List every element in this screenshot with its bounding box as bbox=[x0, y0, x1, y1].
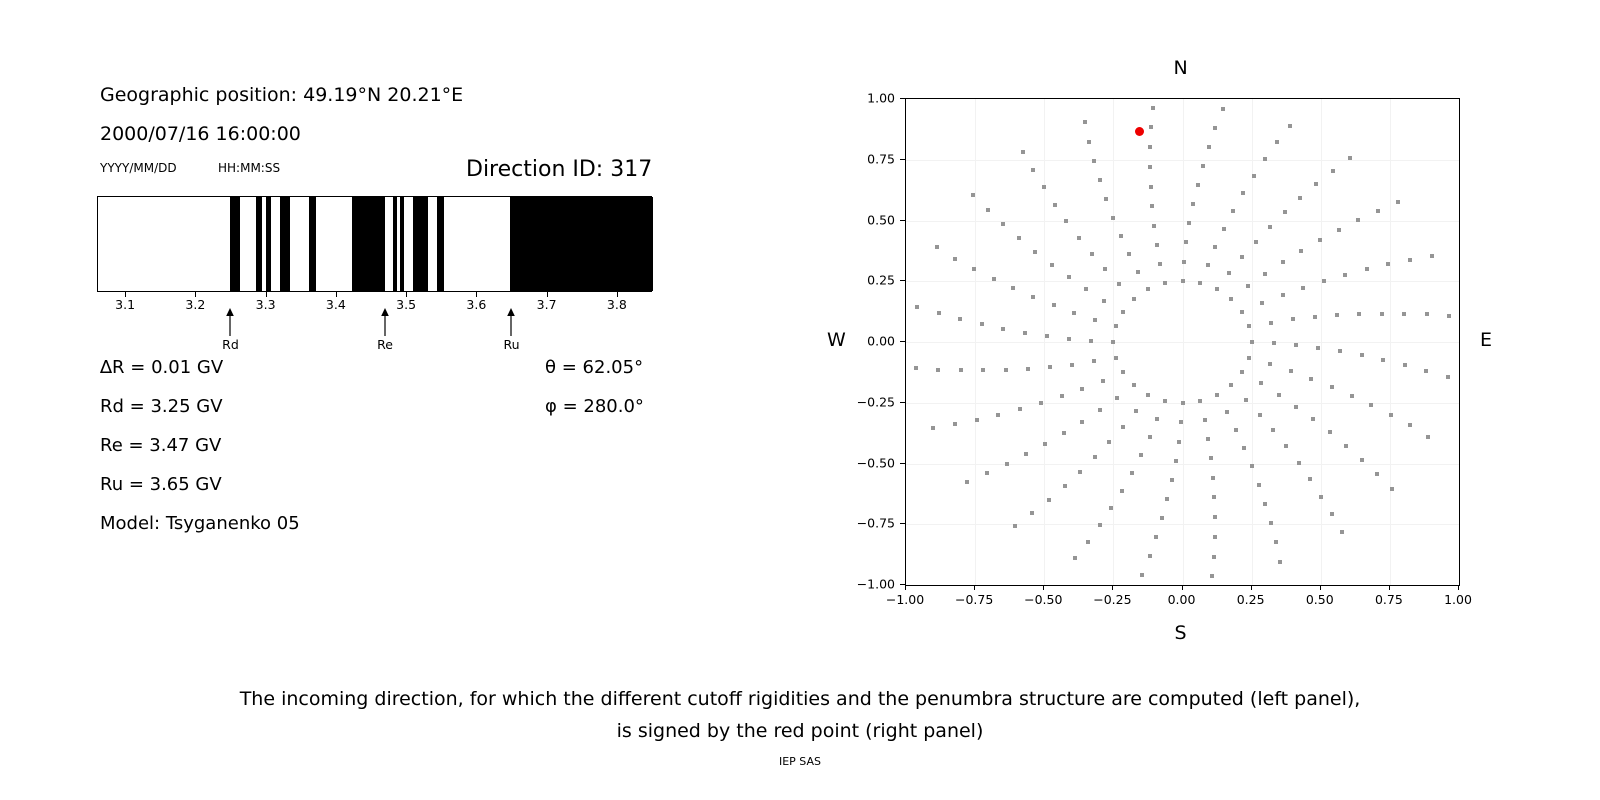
gridline-horizontal bbox=[906, 464, 1459, 465]
scatter-point bbox=[1001, 222, 1005, 226]
x-axis-tick-mark bbox=[974, 585, 975, 590]
scatter-point bbox=[1425, 312, 1429, 316]
scatter-point bbox=[1402, 312, 1406, 316]
scatter-point bbox=[1424, 369, 1428, 373]
scatter-point bbox=[1033, 250, 1037, 254]
scatter-point bbox=[1120, 489, 1124, 493]
scatter-point bbox=[1109, 506, 1113, 510]
scatter-point bbox=[1187, 221, 1191, 225]
scatter-point bbox=[1092, 359, 1096, 363]
scatter-point bbox=[1115, 396, 1119, 400]
scatter-point bbox=[1234, 428, 1238, 432]
scatter-point bbox=[1155, 417, 1159, 421]
scatter-point bbox=[1111, 216, 1115, 220]
scatter-point bbox=[1165, 497, 1169, 501]
scatter-point bbox=[1278, 560, 1282, 564]
parameter-line: Ru = 3.65 GV bbox=[100, 474, 222, 495]
y-axis-tick-label: 0.00 bbox=[837, 334, 895, 349]
x-axis-tick-label: 0.75 bbox=[1375, 592, 1403, 607]
scatter-point bbox=[931, 426, 935, 430]
y-axis-tick-label: 0.50 bbox=[837, 212, 895, 227]
penumbra-band bbox=[352, 197, 386, 291]
scatter-point bbox=[1357, 312, 1361, 316]
scatter-point bbox=[1229, 383, 1233, 387]
penumbra-band bbox=[309, 197, 315, 291]
x-axis-tick-mark bbox=[905, 585, 906, 590]
scatter-point bbox=[1330, 512, 1334, 516]
scatter-point bbox=[986, 208, 990, 212]
scatter-point bbox=[1263, 272, 1267, 276]
scatter-point bbox=[953, 257, 957, 261]
scatter-point bbox=[1294, 343, 1298, 347]
y-axis-tick-label: −0.25 bbox=[837, 394, 895, 409]
parameter-line: θ = 62.05° bbox=[545, 357, 643, 378]
rigidity-marker-label: Re bbox=[374, 337, 396, 352]
scatter-point bbox=[1213, 535, 1217, 539]
x-axis-tick-mark bbox=[1112, 585, 1113, 590]
scatter-point bbox=[1080, 387, 1084, 391]
y-axis-tick-label: 0.75 bbox=[837, 151, 895, 166]
scatter-point bbox=[1031, 295, 1035, 299]
scatter-point bbox=[1127, 252, 1131, 256]
scatter-point bbox=[1348, 156, 1352, 160]
scatter-point bbox=[1275, 140, 1279, 144]
penumbra-band bbox=[256, 197, 262, 291]
scatter-point bbox=[1004, 368, 1008, 372]
scatter-point bbox=[1206, 263, 1210, 267]
scatter-point bbox=[1322, 279, 1326, 283]
scatter-point bbox=[1050, 263, 1054, 267]
time-format-hint: HH:MM:SS bbox=[218, 161, 280, 175]
scatter-point bbox=[1227, 271, 1231, 275]
axis-tick-label: 3.1 bbox=[115, 297, 135, 312]
scatter-point bbox=[1350, 394, 1354, 398]
scatter-point bbox=[1149, 125, 1153, 129]
scatter-point bbox=[1163, 399, 1167, 403]
y-axis-tick-mark bbox=[900, 220, 905, 221]
y-axis-tick-label: 1.00 bbox=[837, 91, 895, 106]
scatter-point bbox=[1360, 353, 1364, 357]
scatter-point bbox=[1011, 286, 1015, 290]
scatter-point bbox=[1160, 516, 1164, 520]
scatter-point bbox=[1268, 362, 1272, 366]
penumbra-axis: 3.13.23.33.43.53.63.73.8 bbox=[97, 292, 652, 308]
scatter-point bbox=[1052, 303, 1056, 307]
x-axis-tick-label: −0.25 bbox=[1093, 592, 1131, 607]
scatter-point bbox=[1360, 458, 1364, 462]
scatter-point bbox=[1005, 462, 1009, 466]
y-axis-tick-label: −0.75 bbox=[837, 516, 895, 531]
scatter-point bbox=[1140, 573, 1144, 577]
scatter-point bbox=[1150, 204, 1154, 208]
scatter-point bbox=[1031, 168, 1035, 172]
scatter-point bbox=[1338, 349, 1342, 353]
scatter-point bbox=[1130, 471, 1134, 475]
scatter-point bbox=[1319, 495, 1323, 499]
figure-caption: The incoming direction, for which the di… bbox=[0, 683, 1600, 747]
scatter-point bbox=[1335, 313, 1339, 317]
scatter-point bbox=[981, 368, 985, 372]
scatter-point bbox=[1259, 381, 1263, 385]
sky-map-plot bbox=[905, 98, 1460, 586]
axis-tick-label: 3.2 bbox=[185, 297, 205, 312]
scatter-point bbox=[1268, 225, 1272, 229]
scatter-point bbox=[1087, 140, 1091, 144]
penumbra-band bbox=[280, 197, 290, 291]
scatter-point bbox=[1328, 430, 1332, 434]
x-axis-tick-mark bbox=[1320, 585, 1321, 590]
scatter-point bbox=[1221, 107, 1225, 111]
scatter-point bbox=[1042, 185, 1046, 189]
scatter-point bbox=[1269, 321, 1273, 325]
scatter-point bbox=[1203, 418, 1207, 422]
scatter-point bbox=[1121, 425, 1125, 429]
scatter-point bbox=[1084, 287, 1088, 291]
scatter-point bbox=[1254, 240, 1258, 244]
scatter-point bbox=[1155, 243, 1159, 247]
scatter-point bbox=[1090, 252, 1094, 256]
rigidity-marker-ru: Ru bbox=[500, 308, 522, 352]
scatter-point bbox=[953, 422, 957, 426]
scatter-point bbox=[1001, 327, 1005, 331]
y-axis-tick-mark bbox=[900, 341, 905, 342]
scatter-point bbox=[1426, 435, 1430, 439]
scatter-point bbox=[1184, 240, 1188, 244]
scatter-point bbox=[1222, 227, 1226, 231]
scatter-point bbox=[915, 305, 919, 309]
scatter-point bbox=[1045, 334, 1049, 338]
scatter-point bbox=[1114, 324, 1118, 328]
scatter-point bbox=[1260, 301, 1264, 305]
scatter-point bbox=[1163, 281, 1167, 285]
right-panel: N E S W −1.00−0.75−0.50−0.250.000.250.50… bbox=[800, 0, 1600, 680]
scatter-point bbox=[1151, 106, 1155, 110]
penumbra-band bbox=[266, 197, 271, 291]
scatter-point bbox=[1181, 279, 1185, 283]
compass-east-label: E bbox=[1480, 329, 1492, 351]
scatter-point bbox=[1244, 398, 1248, 402]
scatter-point bbox=[1213, 126, 1217, 130]
scatter-point bbox=[1274, 540, 1278, 544]
scatter-point bbox=[1240, 310, 1244, 314]
scatter-point bbox=[1039, 401, 1043, 405]
scatter-point bbox=[1072, 311, 1076, 315]
scatter-point bbox=[1047, 498, 1051, 502]
scatter-point bbox=[1148, 435, 1152, 439]
scatter-point bbox=[1247, 324, 1251, 328]
scatter-point bbox=[1114, 356, 1118, 360]
scatter-point bbox=[1060, 394, 1064, 398]
scatter-point bbox=[1213, 245, 1217, 249]
scatter-point bbox=[1340, 530, 1344, 534]
y-axis-tick-mark bbox=[900, 98, 905, 99]
rigidity-marker-rd: Rd bbox=[219, 308, 241, 352]
parameter-line: Rd = 3.25 GV bbox=[100, 396, 223, 417]
scatter-point bbox=[1365, 267, 1369, 271]
scatter-point bbox=[959, 368, 963, 372]
x-axis-tick-label: −0.75 bbox=[955, 592, 993, 607]
scatter-point bbox=[1043, 442, 1047, 446]
scatter-point bbox=[1148, 554, 1152, 558]
axis-tick-label: 3.6 bbox=[466, 297, 486, 312]
scatter-point bbox=[1281, 293, 1285, 297]
scatter-point bbox=[1284, 444, 1288, 448]
scatter-point bbox=[1430, 254, 1434, 258]
scatter-point bbox=[1132, 297, 1136, 301]
scatter-point bbox=[1213, 515, 1217, 519]
scatter-point bbox=[1313, 315, 1317, 319]
scatter-point bbox=[1078, 470, 1082, 474]
scatter-point bbox=[1257, 483, 1261, 487]
scatter-point bbox=[937, 311, 941, 315]
scatter-point bbox=[965, 480, 969, 484]
scatter-point bbox=[1381, 358, 1385, 362]
x-axis-tick-label: 1.00 bbox=[1444, 592, 1472, 607]
scatter-point bbox=[1247, 356, 1251, 360]
up-arrow-icon bbox=[224, 308, 236, 336]
scatter-point bbox=[1148, 145, 1152, 149]
scatter-point bbox=[914, 366, 918, 370]
x-axis-tick-label: 0.25 bbox=[1237, 592, 1265, 607]
scatter-point bbox=[1070, 363, 1074, 367]
scatter-point bbox=[1272, 341, 1276, 345]
scatter-point bbox=[1252, 174, 1256, 178]
scatter-point bbox=[1344, 444, 1348, 448]
scatter-point bbox=[1330, 385, 1334, 389]
scatter-point bbox=[1098, 178, 1102, 182]
parameter-line: Re = 3.47 GV bbox=[100, 435, 221, 456]
scatter-point bbox=[1170, 478, 1174, 482]
scatter-point bbox=[1111, 340, 1115, 344]
scatter-point bbox=[1215, 287, 1219, 291]
scatter-point bbox=[1134, 409, 1138, 413]
scatter-point bbox=[1229, 297, 1233, 301]
scatter-point bbox=[1206, 437, 1210, 441]
scatter-point bbox=[1308, 477, 1312, 481]
scatter-point bbox=[1198, 399, 1202, 403]
scatter-point bbox=[936, 368, 940, 372]
penumbra-band bbox=[230, 197, 240, 291]
scatter-point bbox=[1021, 150, 1025, 154]
x-axis-tick-mark bbox=[1458, 585, 1459, 590]
scatter-point bbox=[1158, 262, 1162, 266]
scatter-point bbox=[1023, 331, 1027, 335]
scatter-point bbox=[958, 317, 962, 321]
scatter-point bbox=[1086, 540, 1090, 544]
scatter-point bbox=[1343, 273, 1347, 277]
penumbra-chart bbox=[97, 196, 652, 292]
x-axis-tick-label: 0.00 bbox=[1168, 592, 1196, 607]
axis-tick-label: 3.8 bbox=[607, 297, 627, 312]
scatter-point bbox=[985, 471, 989, 475]
scatter-point bbox=[996, 413, 1000, 417]
gridline-horizontal bbox=[906, 160, 1459, 161]
scatter-point bbox=[1314, 182, 1318, 186]
scatter-point bbox=[1240, 255, 1244, 259]
scatter-point bbox=[1121, 310, 1125, 314]
scatter-point bbox=[1211, 476, 1215, 480]
geographic-position-label: Geographic position: 49.19°N 20.21°E bbox=[100, 84, 463, 106]
scatter-point bbox=[1093, 455, 1097, 459]
scatter-point bbox=[1242, 446, 1246, 450]
y-axis-tick-mark bbox=[900, 280, 905, 281]
datetime-label: 2000/07/16 16:00:00 bbox=[100, 123, 301, 145]
penumbra-band bbox=[400, 197, 404, 291]
y-axis-tick-mark bbox=[900, 159, 905, 160]
scatter-point bbox=[1139, 453, 1143, 457]
scatter-point bbox=[1132, 383, 1136, 387]
scatter-point bbox=[992, 277, 996, 281]
parameter-line: ∆R = 0.01 GV bbox=[100, 357, 223, 378]
penumbra-band bbox=[413, 197, 428, 291]
scatter-point bbox=[1073, 556, 1077, 560]
scatter-point bbox=[1258, 413, 1262, 417]
gridline-horizontal bbox=[906, 524, 1459, 525]
scatter-point bbox=[1018, 407, 1022, 411]
penumbra-band bbox=[437, 197, 443, 291]
scatter-point bbox=[1369, 403, 1373, 407]
scatter-point bbox=[1198, 281, 1202, 285]
y-axis-tick-mark bbox=[900, 523, 905, 524]
scatter-point bbox=[1107, 440, 1111, 444]
scatter-point bbox=[1174, 459, 1178, 463]
scatter-point bbox=[1294, 405, 1298, 409]
scatter-point bbox=[1067, 275, 1071, 279]
rigidity-marker-label: Ru bbox=[500, 337, 522, 352]
scatter-point bbox=[1375, 472, 1379, 476]
scatter-point bbox=[1246, 284, 1250, 288]
scatter-point bbox=[1396, 200, 1400, 204]
scatter-point bbox=[1446, 375, 1450, 379]
scatter-point bbox=[1356, 218, 1360, 222]
up-arrow-icon bbox=[379, 308, 391, 336]
x-axis-tick-label: −1.00 bbox=[886, 592, 924, 607]
scatter-point bbox=[1179, 420, 1183, 424]
scatter-point bbox=[1408, 423, 1412, 427]
x-axis-tick-mark bbox=[1043, 585, 1044, 590]
scatter-point bbox=[1311, 417, 1315, 421]
parameter-line: φ = 280.0° bbox=[545, 396, 644, 417]
scatter-point bbox=[1376, 209, 1380, 213]
axis-tick-label: 3.5 bbox=[396, 297, 416, 312]
scatter-point bbox=[1048, 365, 1052, 369]
scatter-point bbox=[1077, 236, 1081, 240]
scatter-point bbox=[1083, 120, 1087, 124]
gridline-horizontal bbox=[906, 342, 1459, 343]
scatter-point bbox=[980, 322, 984, 326]
scatter-point bbox=[1146, 393, 1150, 397]
scatter-point bbox=[972, 267, 976, 271]
scatter-point bbox=[1117, 282, 1121, 286]
scatter-point bbox=[1092, 159, 1096, 163]
x-axis-tick-mark bbox=[1251, 585, 1252, 590]
scatter-point bbox=[1337, 228, 1341, 232]
scatter-point bbox=[1212, 495, 1216, 499]
y-axis-tick-label: −1.00 bbox=[837, 577, 895, 592]
scatter-point bbox=[1136, 270, 1140, 274]
scatter-point bbox=[1146, 287, 1150, 291]
scatter-point bbox=[1386, 262, 1390, 266]
scatter-point bbox=[1207, 145, 1211, 149]
scatter-point bbox=[1291, 317, 1295, 321]
scatter-point bbox=[1121, 370, 1125, 374]
caption-line-1: The incoming direction, for which the di… bbox=[0, 683, 1600, 715]
scatter-point bbox=[1101, 379, 1105, 383]
scatter-point bbox=[1318, 238, 1322, 242]
scatter-point bbox=[1196, 183, 1200, 187]
axis-tick-label: 3.4 bbox=[326, 297, 346, 312]
scatter-point bbox=[1102, 299, 1106, 303]
scatter-point bbox=[1053, 203, 1057, 207]
y-axis-tick-label: 0.25 bbox=[837, 273, 895, 288]
scatter-point bbox=[1271, 428, 1275, 432]
compass-south-label: S bbox=[1175, 622, 1187, 644]
scatter-point bbox=[1389, 413, 1393, 417]
scatter-point bbox=[1390, 487, 1394, 491]
axis-tick-label: 3.7 bbox=[537, 297, 557, 312]
y-axis-tick-mark bbox=[900, 463, 905, 464]
selected-direction-point[interactable] bbox=[1135, 127, 1144, 136]
scatter-point bbox=[1063, 484, 1067, 488]
scatter-point bbox=[1298, 196, 1302, 200]
y-axis-tick-label: −0.50 bbox=[837, 455, 895, 470]
scatter-point bbox=[1283, 210, 1287, 214]
scatter-point bbox=[1241, 191, 1245, 195]
scatter-point bbox=[1269, 521, 1273, 525]
scatter-point bbox=[1062, 431, 1066, 435]
scatter-point bbox=[1403, 363, 1407, 367]
scatter-point bbox=[1093, 318, 1097, 322]
scatter-point bbox=[1447, 314, 1451, 318]
scatter-point bbox=[1024, 452, 1028, 456]
scatter-point bbox=[1210, 574, 1214, 578]
scatter-point bbox=[1316, 346, 1320, 350]
scatter-point bbox=[1225, 410, 1229, 414]
axis-tick-label: 3.3 bbox=[256, 297, 276, 312]
scatter-point bbox=[1104, 197, 1108, 201]
scatter-point bbox=[1182, 260, 1186, 264]
scatter-point bbox=[1089, 339, 1093, 343]
up-arrow-icon bbox=[505, 308, 517, 336]
x-axis-tick-label: −0.50 bbox=[1024, 592, 1062, 607]
scatter-point bbox=[1297, 461, 1301, 465]
scatter-point bbox=[1240, 370, 1244, 374]
scatter-point bbox=[1103, 267, 1107, 271]
scatter-point bbox=[1098, 408, 1102, 412]
scatter-point bbox=[1231, 209, 1235, 213]
y-axis-tick-mark bbox=[900, 402, 905, 403]
scatter-point bbox=[1177, 440, 1181, 444]
compass-north-label: N bbox=[1174, 57, 1188, 79]
scatter-point bbox=[975, 418, 979, 422]
scatter-point bbox=[1149, 185, 1153, 189]
scatter-point bbox=[1067, 337, 1071, 341]
footer-credit: IEP SAS bbox=[0, 755, 1600, 768]
caption-line-2: is signed by the red point (right panel) bbox=[0, 715, 1600, 747]
scatter-point bbox=[935, 245, 939, 249]
scatter-point bbox=[1119, 234, 1123, 238]
parameter-line: Model: Tsyganenko 05 bbox=[100, 513, 300, 534]
x-axis-tick-mark bbox=[1389, 585, 1390, 590]
scatter-point bbox=[1152, 224, 1156, 228]
x-axis-tick-mark bbox=[1182, 585, 1183, 590]
scatter-point bbox=[1191, 202, 1195, 206]
scatter-point bbox=[1408, 258, 1412, 262]
direction-id-label: Direction ID: 317 bbox=[466, 157, 652, 182]
scatter-point bbox=[1281, 260, 1285, 264]
date-format-hint: YYYY/MM/DD bbox=[100, 161, 177, 175]
scatter-point bbox=[1301, 286, 1305, 290]
